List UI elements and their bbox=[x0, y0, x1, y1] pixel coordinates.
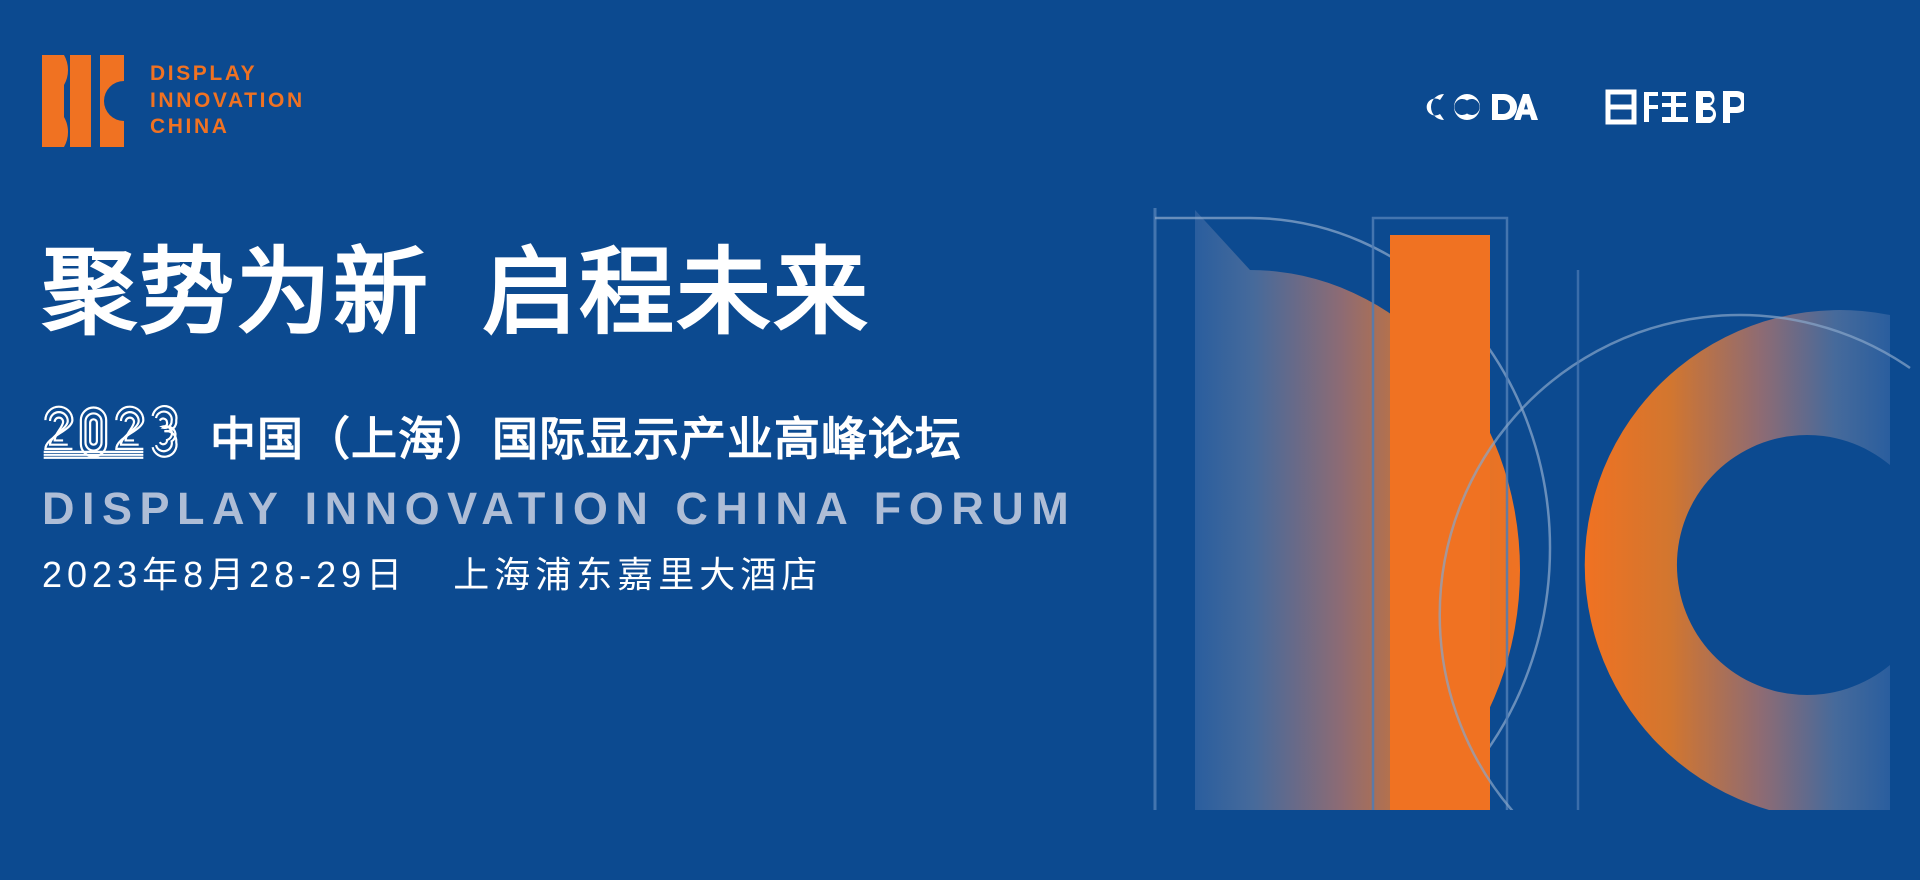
subtitle-row: 中国（上海）国际显示产业高峰论坛 bbox=[42, 400, 962, 464]
logo-line-china: CHINA bbox=[150, 114, 305, 141]
monogram-letter-i bbox=[1373, 218, 1507, 810]
logo-line-innovation: INNOVATION bbox=[150, 88, 305, 115]
dic-logo-wordmark: DISPLAY INNOVATION CHINA bbox=[150, 61, 305, 142]
year-2023-graphic bbox=[42, 400, 194, 464]
headline-part-1: 聚势为新 bbox=[42, 240, 430, 346]
partner-logos bbox=[1410, 85, 1744, 129]
coda-logo[interactable] bbox=[1410, 85, 1570, 129]
headline-part-2: 启程未来 bbox=[482, 240, 870, 346]
event-venue: 上海浦东嘉里大酒店 bbox=[453, 554, 822, 595]
banner-content: 聚势为新启程未来 bbox=[42, 240, 962, 593]
logo-line-display: DISPLAY bbox=[150, 61, 305, 88]
dic-logo-lockup[interactable]: DISPLAY INNOVATION CHINA bbox=[42, 55, 305, 147]
event-date: 2023年8月28-29日 bbox=[42, 554, 407, 595]
subtitle-chinese: 中国（上海）国际显示产业高峰论坛 bbox=[210, 416, 962, 464]
page-title: 聚势为新启程未来 bbox=[42, 240, 962, 346]
dic-monogram-graphic bbox=[1100, 150, 1920, 810]
dic-logo-mark-icon bbox=[42, 55, 124, 147]
subtitle-english: DISPLAY INNOVATION CHINA FORUM bbox=[42, 486, 962, 531]
monogram-letter-d bbox=[1155, 208, 1550, 810]
nikkei-bp-logo[interactable] bbox=[1604, 86, 1744, 128]
event-info: 2023年8月28-29日上海浦东嘉里大酒店 bbox=[42, 557, 962, 593]
event-banner: DISPLAY INNOVATION CHINA bbox=[0, 0, 1920, 880]
